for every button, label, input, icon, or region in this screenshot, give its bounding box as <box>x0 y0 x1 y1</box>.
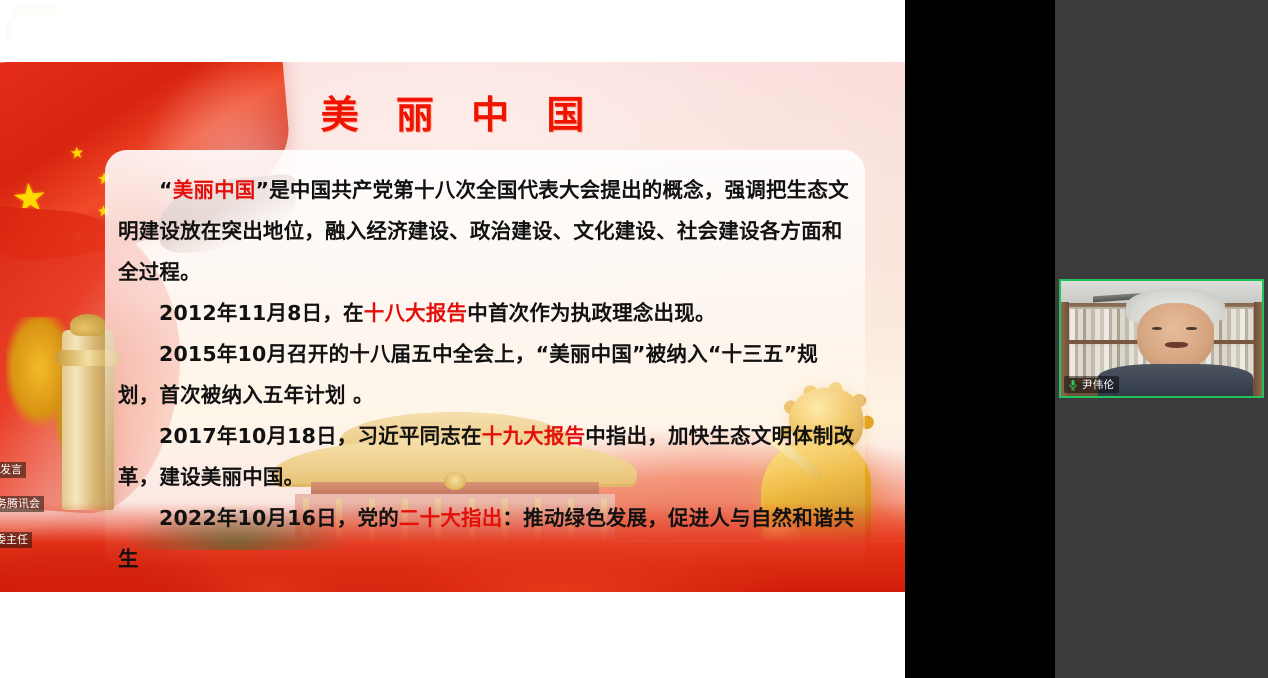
pale-overlay-chip-top-thin <box>6 20 11 42</box>
flag-star-icon: ★ <box>69 146 85 163</box>
slide-paragraph: 2012年11月8日，在十八大报告中首次作为执政理念出现。 <box>118 293 856 334</box>
shared-screen-stage[interactable]: ★ ★ ★ ★ ★ 和国万岁 世界 <box>0 0 905 678</box>
participant-name-label: 尹伟伦 <box>1082 377 1114 392</box>
highlight-text: 美丽中国 <box>173 178 256 202</box>
slide-title: 美 丽 中 国 <box>0 84 905 139</box>
eye <box>1186 327 1196 330</box>
participant-name-chip: 生发言 <box>0 462 26 478</box>
presentation-slide: ★ ★ ★ ★ ★ 和国万岁 世界 <box>0 62 905 592</box>
bookshelf-side <box>1254 302 1262 396</box>
microphone-icon <box>1067 379 1079 391</box>
shirt <box>1098 364 1253 398</box>
slide-body-text: “美丽中国”是中国共产党第十八次全国代表大会提出的概念，强调把生态文明建设放在突… <box>118 170 856 580</box>
face <box>1137 303 1215 370</box>
conference-window: ★ ★ ★ ★ ★ 和国万岁 世界 <box>0 0 1268 678</box>
participant-name-chip: 委主任 <box>0 532 32 548</box>
letterbox-filler <box>905 0 1055 678</box>
mouth <box>1165 342 1188 348</box>
eye <box>1152 327 1162 330</box>
participant-name-badge: 尹伟伦 <box>1064 376 1119 393</box>
pale-overlay-chip-top <box>12 4 58 18</box>
slide-paragraph: 2015年10月召开的十八届五中全会上，“美丽中国”被纳入“十三五”规划，首次被… <box>118 334 856 416</box>
slide-paragraph: 2017年10月18日，习近平同志在十九大报告中指出，加快生态文明体制改革，建设… <box>118 416 856 498</box>
participant-video-tile[interactable]: 尹伟伦 <box>1059 279 1264 398</box>
highlight-text: 十九大报告 <box>482 424 586 448</box>
participant-sidebar[interactable]: 尹伟伦 <box>1055 0 1268 678</box>
highlight-text: 二十大指出 <box>399 506 503 530</box>
slide-paragraph: 2022年10月16日，党的二十大指出：推动绿色发展，促进人与自然和谐共生 <box>118 498 856 580</box>
participant-name-chip: 务腾讯会 <box>0 496 44 512</box>
participant-portrait <box>1129 288 1221 396</box>
highlight-text: 十八大报告 <box>364 301 468 325</box>
slide-paragraph: “美丽中国”是中国共产党第十八次全国代表大会提出的概念，强调把生态文明建设放在突… <box>118 170 856 293</box>
